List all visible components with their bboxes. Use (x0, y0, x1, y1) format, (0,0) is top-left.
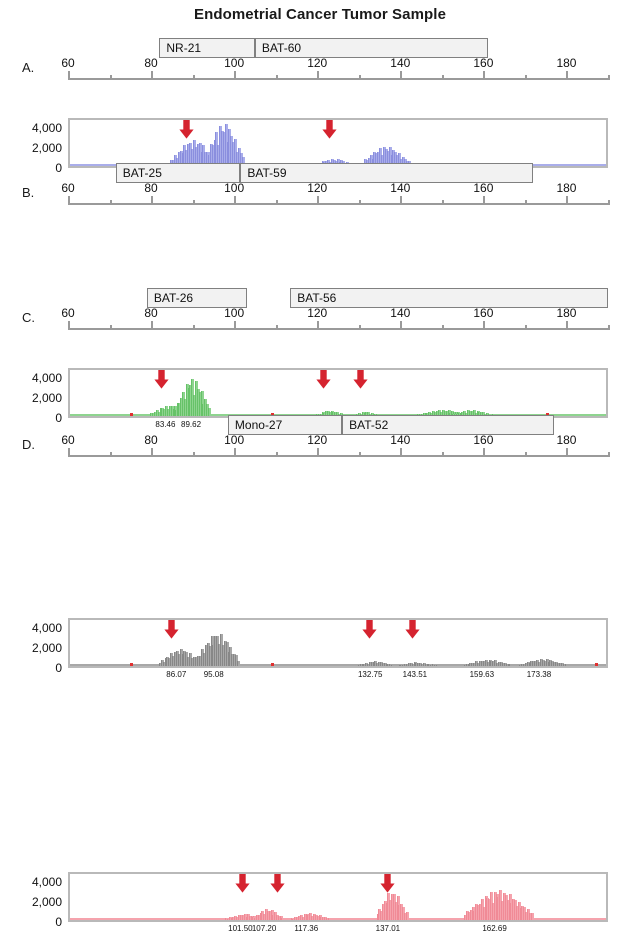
x-axis: 6080100120140160180 (68, 435, 608, 457)
x-axis-tick-minor (525, 452, 527, 457)
panel-letter: D. (22, 437, 35, 452)
panel-letter: C. (22, 310, 35, 325)
x-axis-tick-major (234, 196, 236, 205)
electropherogram-plot (68, 872, 608, 922)
x-axis-tick-label: 180 (556, 181, 576, 195)
x-axis-tick-label: 120 (307, 433, 327, 447)
x-axis-tick-major (68, 321, 70, 330)
y-axis-tick-label: 2,000 (32, 895, 62, 909)
marker-name: BAT-52 (349, 418, 388, 432)
marker-label-box: BAT-60 (255, 38, 488, 58)
unstable-locus-arrow (235, 874, 250, 893)
trace-peak (406, 912, 409, 920)
x-axis-tick-minor (276, 200, 278, 205)
x-axis-line (68, 78, 608, 80)
marker-label-box: BAT-56 (290, 288, 608, 308)
marker-name: Mono-27 (235, 418, 282, 432)
x-axis-tick-label: 80 (144, 181, 157, 195)
x-axis-tick-label: 80 (144, 56, 157, 70)
marker-label-box: Mono-27 (228, 415, 342, 435)
x-axis-line (68, 203, 608, 205)
x-axis-tick-minor (276, 325, 278, 330)
x-axis-tick-label: 120 (307, 56, 327, 70)
peak-size-label: 173.38 (527, 670, 551, 679)
unstable-locus-arrow (380, 874, 395, 893)
x-axis-tick-major (234, 71, 236, 80)
y-axis-tick-label: 2,000 (32, 641, 62, 655)
x-axis-tick-label: 60 (61, 181, 74, 195)
x-axis-tick-major (483, 71, 485, 80)
x-axis-tick-major (483, 321, 485, 330)
trace-peak (237, 661, 240, 667)
x-axis-tick-label: 60 (61, 433, 74, 447)
x-axis-tick-minor (193, 452, 195, 457)
x-axis-tick-label: 160 (473, 56, 493, 70)
x-axis-tick-minor (442, 200, 444, 205)
trace-peak (391, 665, 394, 666)
x-axis-tick-major (317, 71, 319, 80)
x-axis-tick-label: 120 (307, 306, 327, 320)
x-axis-line (68, 455, 608, 457)
x-axis-tick-major (68, 196, 70, 205)
x-axis-tick-major (68, 448, 70, 457)
trace-peak (565, 664, 568, 666)
marker-name: BAT-59 (247, 166, 286, 180)
x-axis-tick-minor (193, 75, 195, 80)
unstable-locus-arrow (154, 370, 169, 389)
x-axis-tick-label: 160 (473, 306, 493, 320)
unstable-locus-arrow (164, 620, 179, 639)
marker-name: BAT-56 (297, 291, 336, 305)
x-axis-tick-minor (193, 325, 195, 330)
y-axis-labels: 4,0002,0000 (10, 872, 62, 922)
x-axis-tick-minor (276, 75, 278, 80)
peak-size-label: 143.51 (403, 670, 427, 679)
x-axis-tick-label: 140 (390, 56, 410, 70)
x-axis-tick-minor (110, 325, 112, 330)
electropherogram-plot (68, 618, 608, 668)
x-axis: 6080100120140160180 (68, 183, 608, 205)
x-axis-tick-major (400, 321, 402, 330)
peak-size-label: 83.46 (155, 420, 175, 429)
peak-size-label: 89.62 (181, 420, 201, 429)
unstable-locus-arrow (322, 120, 337, 139)
x-axis-tick-major (400, 448, 402, 457)
peak-size-label: 101.50 (228, 924, 252, 933)
x-axis-tick-major (483, 448, 485, 457)
x-axis-tick-label: 80 (144, 433, 157, 447)
panel-letter: B. (22, 185, 34, 200)
x-axis-tick-minor (276, 452, 278, 457)
peak-size-label: 132.75 (358, 670, 382, 679)
size-standard-marker (130, 413, 133, 416)
x-axis-tick-label: 160 (473, 433, 493, 447)
x-axis-tick-major (317, 321, 319, 330)
x-axis-tick-minor (442, 75, 444, 80)
x-axis-tick-major (151, 71, 153, 80)
x-axis-tick-major (68, 71, 70, 80)
marker-label-box: NR-21 (159, 38, 255, 58)
panel-letter: A. (22, 60, 34, 75)
x-axis-tick-minor (359, 325, 361, 330)
trace-peak (531, 913, 534, 920)
x-axis: 6080100120140160180 (68, 308, 608, 330)
x-axis-tick-label: 140 (390, 181, 410, 195)
x-axis-tick-major (151, 448, 153, 457)
unstable-locus-arrow (179, 120, 194, 139)
size-standard-marker (271, 663, 274, 666)
x-axis-tick-minor (359, 200, 361, 205)
y-axis-tick-label: 4,000 (32, 121, 62, 135)
peak-size-labels: 86.0795.08132.75143.51159.63173.38 (0, 670, 640, 682)
x-axis-tick-minor (110, 452, 112, 457)
x-axis-tick-label: 180 (556, 56, 576, 70)
marker-label-box: BAT-52 (342, 415, 554, 435)
trace-peak (509, 664, 512, 666)
marker-label-box: BAT-25 (116, 163, 241, 183)
marker-name: NR-21 (166, 41, 201, 55)
marker-label-box: BAT-26 (147, 288, 247, 308)
x-axis-tick-major (151, 196, 153, 205)
marker-name: BAT-25 (123, 166, 162, 180)
x-axis-tick-major (400, 71, 402, 80)
x-axis-tick-minor (608, 75, 610, 80)
unstable-locus-arrow (316, 370, 331, 389)
x-axis-tick-major (566, 321, 568, 330)
trace-peak (281, 918, 284, 920)
x-axis-tick-minor (608, 452, 610, 457)
y-axis-tick-label: 4,000 (32, 875, 62, 889)
x-axis-tick-minor (110, 75, 112, 80)
x-axis-tick-minor (525, 75, 527, 80)
x-axis-tick-minor (608, 200, 610, 205)
x-axis-tick-major (234, 448, 236, 457)
x-axis-tick-major (317, 448, 319, 457)
y-axis-tick-label: 4,000 (32, 371, 62, 385)
y-axis-tick-label: 4,000 (32, 621, 62, 635)
marker-name: BAT-60 (262, 41, 301, 55)
x-axis-tick-major (566, 448, 568, 457)
x-axis-tick-major (151, 321, 153, 330)
x-axis-tick-minor (525, 200, 527, 205)
peak-size-label: 86.07 (166, 670, 186, 679)
x-axis-tick-major (234, 321, 236, 330)
x-axis-tick-label: 160 (473, 181, 493, 195)
unstable-locus-arrow (353, 370, 368, 389)
peak-size-label: 137.01 (376, 924, 400, 933)
unstable-locus-arrow (405, 620, 420, 639)
trace-peak (328, 918, 331, 920)
peak-size-label: 159.63 (470, 670, 494, 679)
peak-size-label: 107.20 (252, 924, 276, 933)
x-axis-line (68, 328, 608, 330)
unstable-locus-arrow (270, 874, 285, 893)
x-axis-tick-label: 60 (61, 56, 74, 70)
x-axis-tick-major (317, 196, 319, 205)
x-axis-tick-minor (359, 75, 361, 80)
peak-size-label: 117.36 (294, 924, 318, 933)
y-axis-tick-label: 2,000 (32, 391, 62, 405)
size-standard-marker (130, 663, 133, 666)
x-axis-tick-minor (442, 452, 444, 457)
x-axis-tick-label: 60 (61, 306, 74, 320)
x-axis-tick-label: 140 (390, 306, 410, 320)
electropherogram-plot (68, 368, 608, 418)
peak-size-label: 162.69 (482, 924, 506, 933)
x-axis-tick-minor (608, 325, 610, 330)
y-axis-labels: 4,0002,0000 (10, 618, 62, 668)
x-axis-tick-minor (359, 452, 361, 457)
x-axis-tick-minor (442, 325, 444, 330)
x-axis-tick-major (400, 196, 402, 205)
x-axis-tick-label: 100 (224, 181, 244, 195)
peak-size-labels: 101.50107.20117.36137.01162.69 (0, 924, 640, 936)
x-axis-tick-minor (193, 200, 195, 205)
trace-peak (436, 665, 439, 666)
x-axis-tick-label: 180 (556, 306, 576, 320)
trace-peak (208, 408, 211, 416)
electropherogram-plot (68, 118, 608, 168)
x-axis-tick-label: 100 (224, 306, 244, 320)
marker-label-box: BAT-59 (240, 163, 533, 183)
x-axis-tick-label: 180 (556, 433, 576, 447)
x-axis-tick-minor (110, 200, 112, 205)
unstable-locus-arrow (362, 620, 377, 639)
y-axis-tick-label: 2,000 (32, 141, 62, 155)
marker-name: BAT-26 (154, 291, 193, 305)
x-axis-tick-major (566, 71, 568, 80)
x-axis-tick-label: 100 (224, 433, 244, 447)
size-standard-marker (595, 663, 598, 666)
x-axis-tick-major (483, 196, 485, 205)
x-axis-tick-major (566, 196, 568, 205)
x-axis-tick-label: 80 (144, 306, 157, 320)
page-title: Endometrial Cancer Tumor Sample (0, 6, 640, 23)
y-axis-labels: 4,0002,0000 (10, 368, 62, 418)
x-axis-tick-label: 100 (224, 56, 244, 70)
x-axis-tick-minor (525, 325, 527, 330)
x-axis: 6080100120140160180 (68, 58, 608, 80)
y-axis-labels: 4,0002,0000 (10, 118, 62, 168)
x-axis-tick-label: 120 (307, 181, 327, 195)
peak-size-label: 95.08 (204, 670, 224, 679)
x-axis-tick-label: 140 (390, 433, 410, 447)
